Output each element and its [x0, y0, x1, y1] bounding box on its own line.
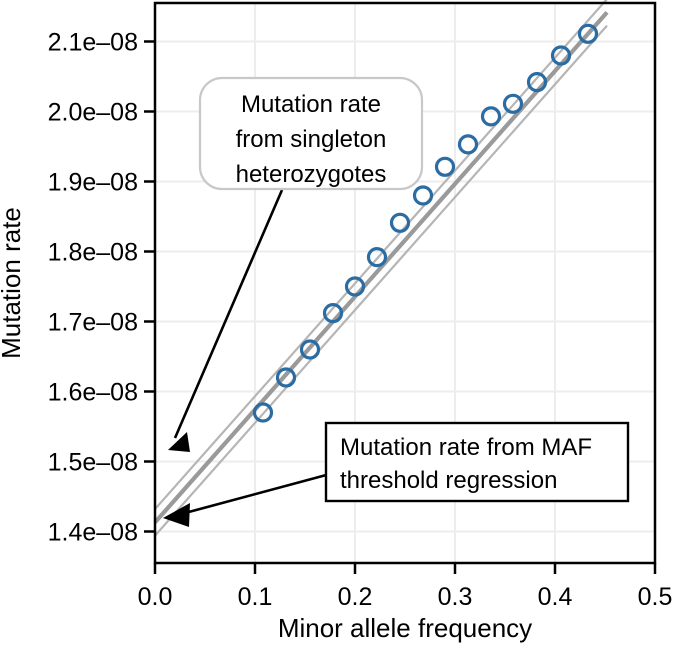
x-axis-title: Minor allele frequency [278, 613, 532, 643]
x-tick-label-5: 0.5 [638, 583, 673, 611]
figure-container: 1.4e–081.5e–081.6e–081.7e–081.8e–081.9e–… [0, 0, 675, 645]
y-tick-label-5: 1.9e–08 [48, 169, 138, 197]
x-tick-label-2: 0.2 [338, 583, 373, 611]
x-axis-tick-labels: 0.00.10.20.30.40.5 [138, 583, 673, 611]
x-tick-label-0: 0.0 [138, 583, 173, 611]
y-tick-label-2: 1.6e–08 [48, 379, 138, 407]
annotation-maf-threshold[interactable]: Mutation rate from MAF threshold regress… [326, 423, 628, 501]
x-axis-ticks [155, 563, 655, 574]
maf-annotation-line-1: Mutation rate from MAF [340, 434, 592, 461]
x-tick-label-4: 0.4 [538, 583, 573, 611]
singleton-annotation-line-3: heterozygotes [236, 161, 387, 188]
y-tick-label-6: 2.0e–08 [48, 99, 138, 127]
y-tick-label-3: 1.7e–08 [48, 309, 138, 337]
y-tick-label-7: 2.1e–08 [48, 29, 138, 57]
y-axis-ticks [144, 42, 155, 532]
mutation-rate-scatter-chart: 1.4e–081.5e–081.6e–081.7e–081.8e–081.9e–… [0, 0, 675, 645]
x-tick-label-1: 0.1 [238, 583, 273, 611]
x-tick-label-3: 0.3 [438, 583, 473, 611]
maf-annotation-line-2: threshold regression [340, 467, 557, 494]
y-tick-label-1: 1.5e–08 [48, 449, 138, 477]
y-axis-tick-labels: 1.4e–081.5e–081.6e–081.7e–081.8e–081.9e–… [48, 29, 138, 547]
y-tick-label-4: 1.8e–08 [48, 239, 138, 267]
y-axis-title: Mutation rate [0, 207, 26, 359]
singleton-annotation-line-1: Mutation rate [241, 91, 381, 118]
singleton-annotation-line-2: from singleton [236, 126, 387, 153]
annotation-singleton[interactable]: Mutation rate from singleton heterozygot… [200, 78, 422, 189]
y-tick-label-0: 1.4e–08 [48, 519, 138, 547]
